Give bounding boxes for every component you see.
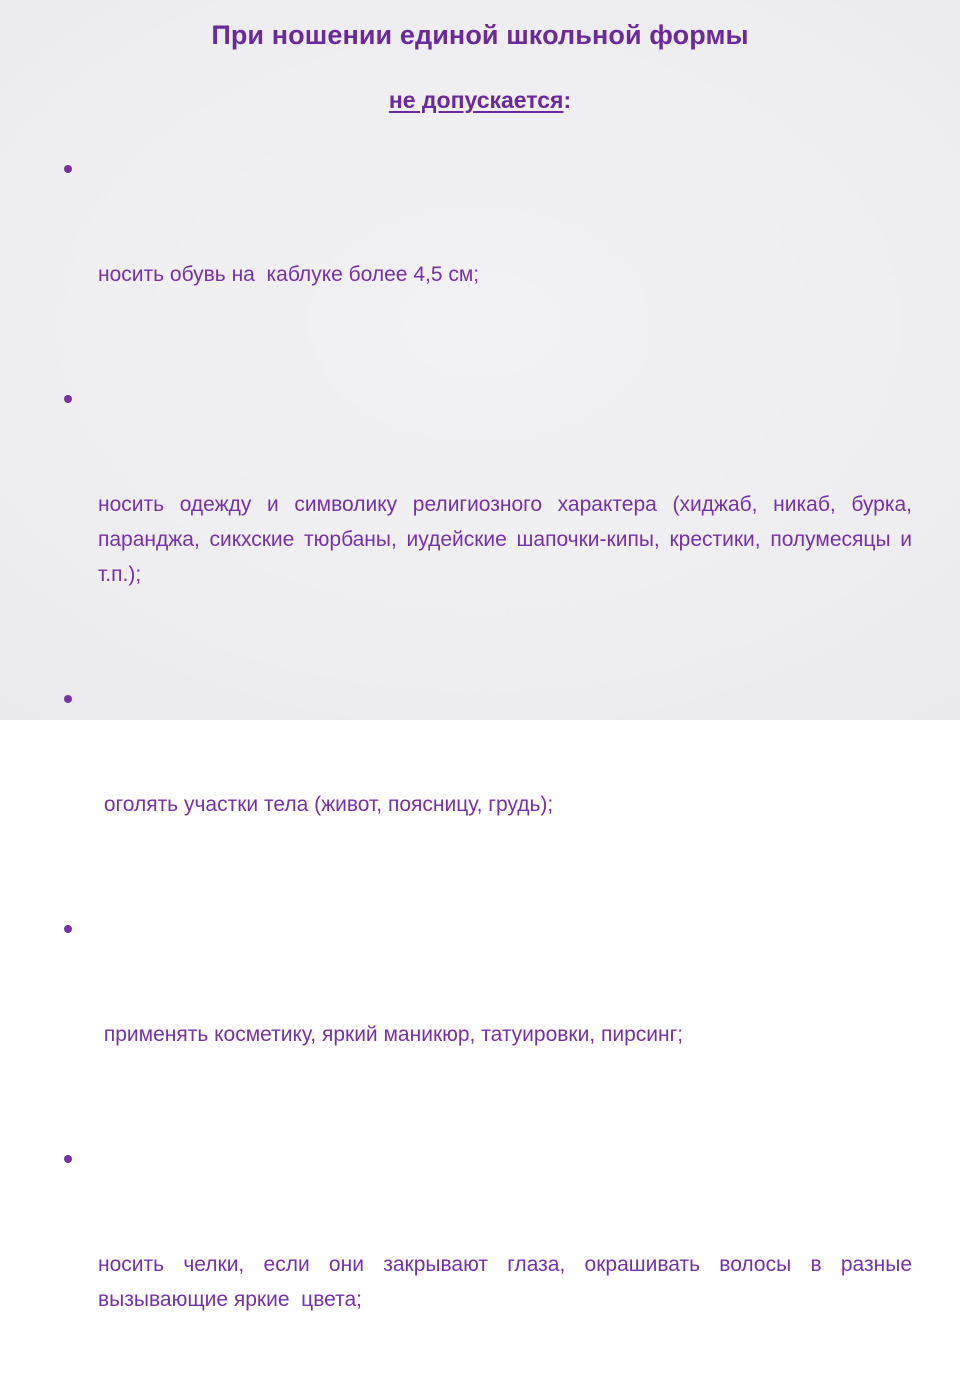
list-item: применять косметику, яркий маникюр, тату…: [60, 912, 912, 1122]
bullet-point-icon: [64, 695, 72, 703]
subtitle-underlined-text: не допускается: [389, 87, 564, 113]
subtitle-block: не допускается:: [0, 85, 960, 115]
list-item-label: носить обувь на каблуке более 4,5 см;: [98, 257, 912, 292]
page-title: При ношении единой школьной формы: [0, 18, 960, 52]
bullet-point-icon: [64, 1155, 72, 1163]
list-item-label: применять косметику, яркий маникюр, тату…: [98, 1017, 912, 1052]
list-item-label: оголять участки тела (живот, поясницу, г…: [98, 787, 912, 822]
bullet-list: носить обувь на каблуке более 4,5 см; но…: [60, 152, 912, 1387]
list-item: носить одежду и символику религиозного х…: [60, 382, 912, 662]
list-item-label: носить одежду и символику религиозного х…: [98, 487, 912, 592]
bullet-point-icon: [64, 165, 72, 173]
subtitle-colon: :: [563, 87, 571, 113]
bullet-point-icon: [64, 395, 72, 403]
list-item: носить челки, если они закрывают глаза, …: [60, 1142, 912, 1387]
list-item-label: носить челки, если они закрывают глаза, …: [98, 1247, 912, 1317]
list-item: оголять участки тела (живот, поясницу, г…: [60, 682, 912, 892]
bullet-point-icon: [64, 925, 72, 933]
list-item: носить обувь на каблуке более 4,5 см;: [60, 152, 912, 362]
title-block: При ношении единой школьной формы: [0, 18, 960, 52]
page-subtitle: не допускается:: [0, 85, 960, 115]
slide-canvas: При ношении единой школьной формы не доп…: [0, 0, 960, 720]
